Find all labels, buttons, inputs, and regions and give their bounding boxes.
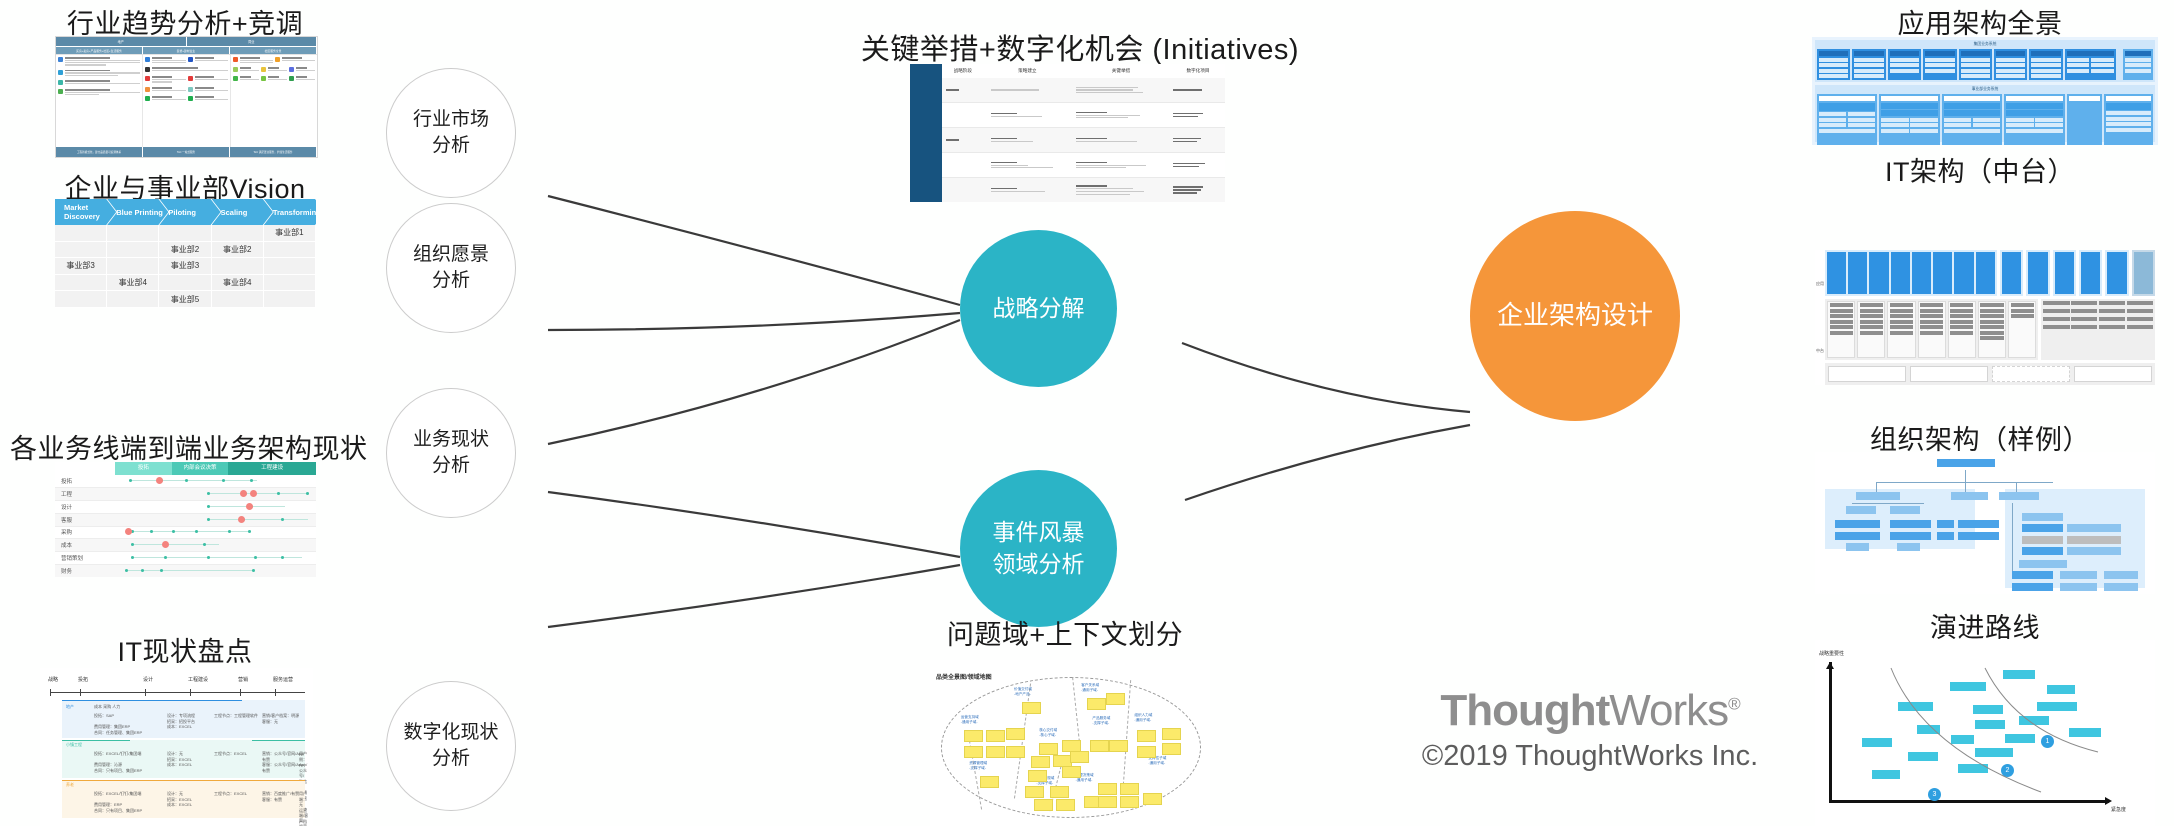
initiatives-col: 策略建立	[984, 68, 1071, 74]
vision-cell	[264, 258, 316, 275]
app-arch-group-band-label: 集团业务系统	[1817, 42, 2153, 47]
vision-cell: 事业部4	[212, 275, 264, 292]
analysis-circle-line2: 分析	[432, 455, 470, 476]
event-storm-circle[interactable]: 事件风暴 领域分析	[960, 470, 1117, 627]
analysis-circle-label: 数字化现状 分析	[403, 720, 498, 771]
event-storm-line2: 领域分析	[993, 551, 1085, 577]
org-chart-thumbnail	[1815, 452, 2155, 594]
it-stage: 营销	[238, 676, 248, 683]
analysis-circle-label: 行业市场 分析	[413, 107, 489, 158]
mp-row-label: 应用	[1815, 250, 1825, 318]
analysis-circle-business[interactable]: 业务现状 分析	[386, 388, 516, 518]
link-strategy-to-ea	[1182, 343, 1470, 412]
it-stage: 设计	[143, 676, 153, 683]
vision-cell: 事业部1	[264, 225, 316, 242]
analysis-circle-digital[interactable]: 数字化现状 分析	[386, 681, 516, 811]
analysis-circle-line2: 分析	[432, 270, 470, 291]
vision-cell	[107, 291, 159, 308]
vision-cell	[107, 258, 159, 275]
vision-cell	[107, 225, 159, 242]
link-digital-to-eventstorm	[548, 565, 960, 627]
vision-cell	[264, 242, 316, 259]
it-stage: 战略	[48, 676, 58, 683]
initiatives-col: 关键举措	[1071, 68, 1171, 74]
vision-cell	[55, 275, 107, 292]
logo-bold-part: Thought	[1440, 686, 1609, 735]
analysis-circle-line2: 分析	[432, 135, 470, 156]
vision-cell	[212, 258, 264, 275]
mp-tech-item	[2074, 366, 2152, 382]
logo-thin-part: Works	[1609, 686, 1728, 735]
analysis-circle-line1: 行业市场	[413, 109, 489, 130]
vision-cell: 事业部2	[159, 242, 211, 259]
section-title-it-middle-platform: IT架构（中台）	[1845, 150, 2115, 189]
section-title-initiatives: 关键举措+数字化机会 (Initiatives)	[860, 26, 1300, 68]
ba-row-label: 成本	[55, 541, 121, 549]
enterprise-architecture-circle[interactable]: 企业架构设计	[1470, 211, 1680, 421]
vision-cell	[107, 242, 159, 259]
ba-row-label: 采购	[55, 528, 121, 536]
vision-cell: 事业部3	[159, 258, 211, 275]
vision-cell: 事业部5	[159, 291, 211, 308]
vision-cell	[159, 275, 211, 292]
section-title-it-current-state: IT现状盘点	[55, 630, 315, 669]
vision-phase: Market Discovery	[55, 199, 116, 225]
ba-phase: 工程建设	[228, 462, 316, 475]
app-arch-bu-band-label: 事业部业务系统	[1817, 87, 2153, 92]
vision-grid: 事业部1 事业部2 事业部2 事业部3 事业部3 事业部4 事业部4 事业部5	[55, 225, 316, 308]
initiatives-col: 数字化项目	[1171, 68, 1225, 74]
link-market-to-strategy	[548, 196, 960, 305]
ba-row-label: 营销策划	[55, 554, 121, 562]
slide-canvas: 行业趋势分析+竞调 地产同业 买房+卖房+产品服务+社区+生活服务装修+建材业主…	[0, 0, 2174, 826]
roadmap-wave-arcs	[1815, 640, 2155, 826]
strategy-decomposition-label: 战略分解	[993, 293, 1085, 324]
initiatives-col: 战略阶段	[942, 68, 984, 74]
vision-cell	[212, 291, 264, 308]
application-architecture-thumbnail: 集团业务系统 事业部业务系统	[1812, 37, 2158, 145]
it-stage: 投拓	[78, 676, 88, 683]
vision-cell	[212, 225, 264, 242]
org-right-item	[2012, 583, 2053, 591]
it-middle-platform-thumbnail: 应用 中台	[1815, 250, 2155, 385]
vision-cell: 事业部3	[55, 258, 107, 275]
vision-phase-header: Market Discovery Blue Printing Piloting …	[55, 199, 316, 225]
copyright-text: ©2019 ThoughtWorks Inc.	[1400, 740, 1780, 773]
enterprise-architecture-label: 企业架构设计	[1497, 298, 1653, 333]
vision-phase: Blue Printing	[107, 199, 168, 225]
it-stage: 工程建设	[188, 676, 208, 683]
ba-row-label: 客服	[55, 516, 121, 524]
mp-tech-item	[1992, 366, 2070, 382]
mp-tech-item	[1828, 366, 1906, 382]
vision-cell	[264, 291, 316, 308]
org-right-item	[2067, 536, 2121, 544]
analysis-circle-market[interactable]: 行业市场 分析	[386, 68, 516, 198]
it-stage: 服务运营	[273, 676, 293, 683]
registered-trademark-icon: ®	[1728, 694, 1740, 713]
ba-phase: 投拓	[115, 462, 172, 475]
vision-phase: Piloting	[159, 199, 220, 225]
org-right-item	[2067, 547, 2121, 555]
ba-row-label: 财务	[55, 567, 121, 575]
analysis-circle-vision[interactable]: 组织愿景 分析	[386, 203, 516, 333]
link-business-to-strategy	[548, 320, 960, 444]
event-storm-label: 事件风暴 领域分析	[993, 517, 1085, 579]
initiatives-table-thumbnail: 战略阶段 策略建立 关键举措 数字化项目	[910, 64, 1225, 202]
vision-cell	[55, 291, 107, 308]
vision-phase: Scaling	[212, 199, 273, 225]
competitor-matrix-thumbnail: 地产同业 买房+卖房+产品服务+社区+生活服务装修+建材业主社区服务全景	[55, 36, 318, 158]
link-vision-to-strategy	[548, 313, 960, 330]
analysis-circle-line1: 数字化现状	[403, 722, 498, 743]
thoughtworks-logo: ThoughtWorks® ©2019 ThoughtWorks Inc.	[1400, 686, 1780, 773]
roadmap-thumbnail: 战略重要性 紧急度 1 2 3	[1815, 640, 2155, 826]
section-title-business-architecture: 各业务线端到端业务架构现状	[10, 427, 360, 466]
org-right-item	[2012, 571, 2053, 579]
event-storm-line1: 事件风暴	[993, 519, 1085, 545]
vision-cell	[55, 225, 107, 242]
section-title-application-architecture: 应用架构全景	[1860, 2, 2100, 41]
vision-table-thumbnail: Market Discovery Blue Printing Piloting …	[55, 199, 316, 308]
initiatives-side-band	[910, 64, 942, 202]
problem-domain-thumbnail: 品类全景图/领域地图 价值交付域-地产产品- 客户关系域-通用子域- 运营支持域…	[930, 660, 1210, 826]
ba-row-label: 设计	[55, 503, 121, 511]
link-business-to-eventstorm	[548, 492, 960, 557]
it-current-state-thumbnail: 战略 投拓 设计 工程建设 营销 服务运营 地产 成本 采购 人力 投拓：SAP…	[40, 668, 313, 826]
analysis-circle-line2: 分析	[432, 748, 470, 769]
ba-phase: 内部会议决策	[172, 462, 229, 475]
mp-row-label: 中台	[1815, 318, 1825, 386]
analysis-circle-line1: 业务现状	[413, 429, 489, 450]
mp-tech-item	[1910, 366, 1988, 382]
link-eventstorm-to-ea	[1185, 425, 1470, 500]
ba-row-label: 工程	[55, 490, 121, 498]
analysis-circle-line1: 组织愿景	[413, 244, 489, 265]
org-right-item	[2067, 524, 2121, 532]
logo-wordmark: ThoughtWorks®	[1400, 686, 1780, 736]
vision-cell: 事业部2	[212, 242, 264, 259]
vision-cell	[159, 225, 211, 242]
analysis-circle-label: 组织愿景 分析	[413, 242, 489, 293]
vision-cell	[264, 275, 316, 292]
vision-cell: 事业部4	[107, 275, 159, 292]
vision-cell	[55, 242, 107, 259]
strategy-decomposition-circle[interactable]: 战略分解	[960, 230, 1117, 387]
business-architecture-thumbnail: 投拓 内部会议决策 工程建设 投拓 工程 设计 客服	[55, 462, 316, 577]
ba-row-label: 投拓	[55, 477, 121, 485]
problem-domain-chart-title: 品类全景图/领域地图	[936, 672, 992, 681]
section-title-problem-domain: 问题域+上下文划分	[905, 613, 1225, 652]
analysis-circle-label: 业务现状 分析	[413, 427, 489, 478]
